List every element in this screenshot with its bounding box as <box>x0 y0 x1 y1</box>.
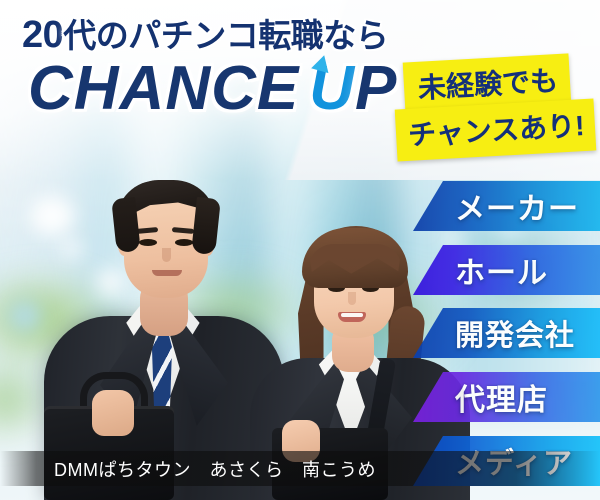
category-tag-label: ホール <box>455 248 548 292</box>
badge-line-2: チャンスあり! <box>395 99 596 162</box>
credit-text: DMMぱちタウン あさくら 南こうめ <box>54 456 376 482</box>
category-tag-maker[interactable]: メーカー <box>413 181 600 231</box>
credit-band: DMMぱちタウン あさくら 南こうめ <box>0 451 600 486</box>
category-tag-agency[interactable]: 代理店 <box>413 372 600 422</box>
advertisement-banner[interactable]: 20代のパチンコ転職なら CHANCEUP 未経験でも チャンスあり! メーカー… <box>0 0 600 500</box>
category-tag-label: メーカー <box>455 184 579 228</box>
badge-text-2: チャンスあり! <box>395 99 596 162</box>
category-tag-label: 代理店 <box>455 375 548 419</box>
category-tag-hall[interactable]: ホール <box>413 245 600 295</box>
category-tag-label: 開発会社 <box>455 312 575 354</box>
category-tag-development-company[interactable]: 開発会社 <box>413 308 600 358</box>
